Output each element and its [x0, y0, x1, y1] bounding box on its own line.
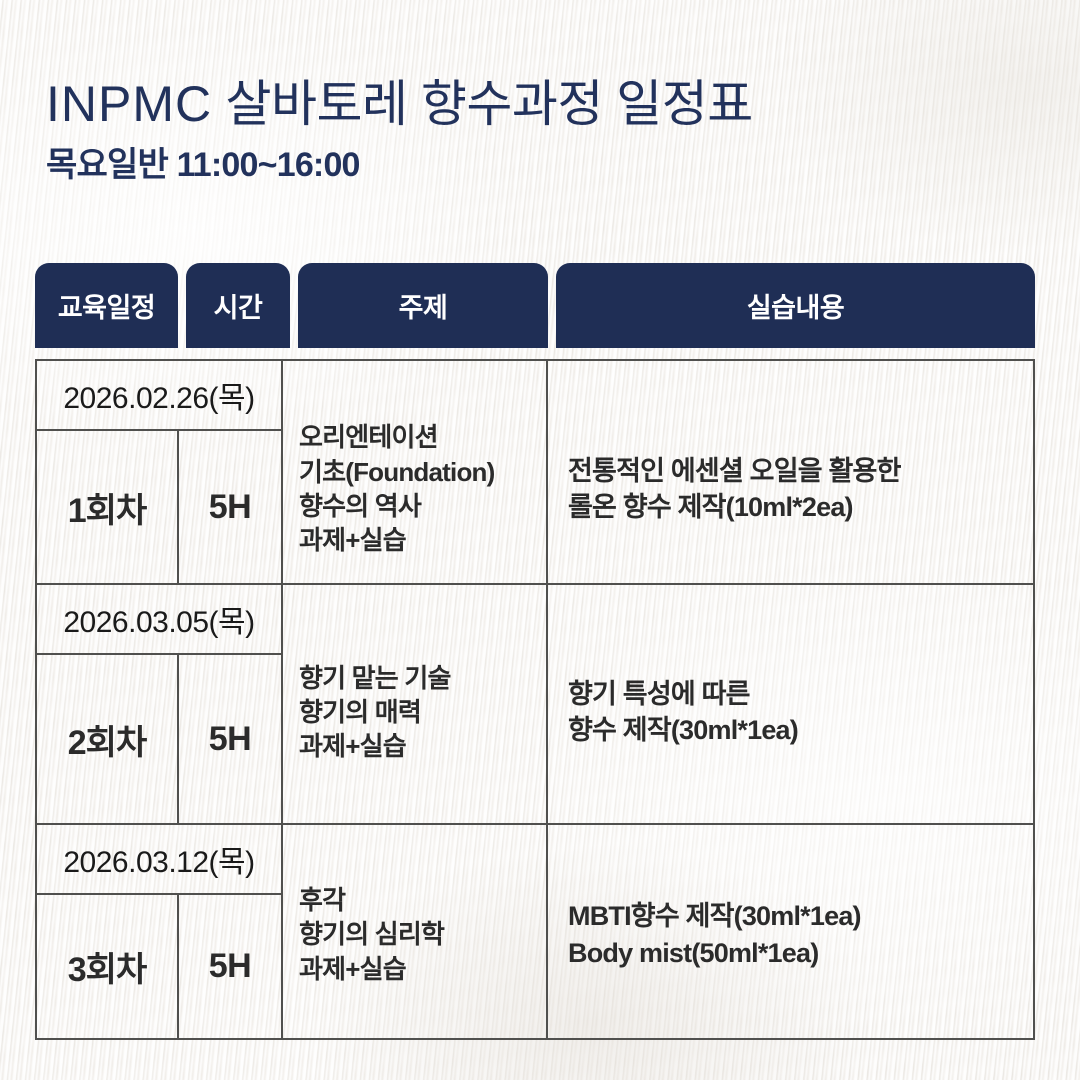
schedule-time-block: 2026.03.12(목) 3회차 5H — [37, 825, 283, 1038]
cell-date: 2026.02.26(목) — [37, 361, 281, 431]
topic-line: 향기 맡는 기술 — [299, 661, 546, 695]
table-row: 2026.03.12(목) 3회차 5H 후각 향기의 심리학 과제+실습 MB… — [37, 825, 1033, 1038]
session-hours-wrap: 3회차 5H — [37, 895, 281, 1038]
schedule-table: 2026.02.26(목) 1회차 5H 오리엔테이션 기초(Foundatio… — [35, 359, 1035, 1040]
brand-name: INPMC — [46, 76, 212, 132]
practice-line: 향수 제작(30ml*1ea) — [568, 712, 1033, 748]
column-header-time: 시간 — [186, 263, 290, 348]
title-block: INPMC 살바토레 향수과정 일정표 목요일반 11:00~16:00 — [46, 78, 1026, 186]
topic-line: 과제+실습 — [299, 952, 546, 986]
course-title: 살바토레 향수과정 일정표 — [226, 76, 753, 132]
table-row: 2026.03.05(목) 2회차 5H 향기 맡는 기술 향기의 매력 과제+… — [37, 585, 1033, 825]
topic-line: 후각 — [299, 883, 546, 917]
practice-line: 전통적인 에센셜 오일을 활용한 — [568, 453, 1033, 489]
topic-line: 향기의 매력 — [299, 695, 546, 729]
cell-topic: 오리엔테이션 기초(Foundation) 향수의 역사 과제+실습 — [283, 361, 548, 583]
column-header-topic: 주제 — [298, 263, 548, 348]
topic-line: 향수의 역사 — [299, 489, 546, 523]
practice-line: MBTI향수 제작(30ml*1ea) — [568, 898, 1033, 934]
column-header-practice: 실습내용 — [556, 263, 1035, 348]
cell-session: 2회차 — [37, 655, 179, 823]
page-title: INPMC 살바토레 향수과정 일정표 — [46, 78, 1026, 131]
cell-practice: 향기 특성에 따른 향수 제작(30ml*1ea) — [548, 585, 1033, 823]
table-row: 2026.02.26(목) 1회차 5H 오리엔테이션 기초(Foundatio… — [37, 361, 1033, 585]
topic-line: 오리엔테이션 — [299, 420, 546, 454]
schedule-time-block: 2026.03.05(목) 2회차 5H — [37, 585, 283, 823]
practice-line: 향기 특성에 따른 — [568, 676, 1033, 712]
cell-practice: MBTI향수 제작(30ml*1ea) Body mist(50ml*1ea) — [548, 825, 1033, 1038]
topic-line: 과제+실습 — [299, 523, 546, 557]
cell-topic: 후각 향기의 심리학 과제+실습 — [283, 825, 548, 1038]
column-header-schedule: 교육일정 — [35, 263, 178, 348]
page-subtitle: 목요일반 11:00~16:00 — [46, 137, 1026, 186]
cell-date: 2026.03.05(목) — [37, 585, 281, 655]
schedule-poster: INPMC 살바토레 향수과정 일정표 목요일반 11:00~16:00 교육일… — [0, 0, 1080, 1080]
session-hours-wrap: 2회차 5H — [37, 655, 281, 823]
cell-practice: 전통적인 에센셜 오일을 활용한 롤온 향수 제작(10ml*2ea) — [548, 361, 1033, 583]
session-hours-wrap: 1회차 5H — [37, 431, 281, 583]
cell-hours: 5H — [179, 431, 281, 583]
schedule-time-block: 2026.02.26(목) 1회차 5H — [37, 361, 283, 583]
cell-hours: 5H — [179, 895, 281, 1038]
cell-topic: 향기 맡는 기술 향기의 매력 과제+실습 — [283, 585, 548, 823]
topic-line: 향기의 심리학 — [299, 917, 546, 951]
cell-hours: 5H — [179, 655, 281, 823]
table-header-row: 교육일정 시간 주제 실습내용 — [35, 263, 1035, 348]
cell-date: 2026.03.12(목) — [37, 825, 281, 895]
topic-line: 기초(Foundation) — [299, 455, 546, 489]
practice-line: Body mist(50ml*1ea) — [568, 935, 1033, 971]
cell-session: 3회차 — [37, 895, 179, 1038]
topic-line: 과제+실습 — [299, 729, 546, 763]
cell-session: 1회차 — [37, 431, 179, 583]
practice-line: 롤온 향수 제작(10ml*2ea) — [568, 489, 1033, 525]
